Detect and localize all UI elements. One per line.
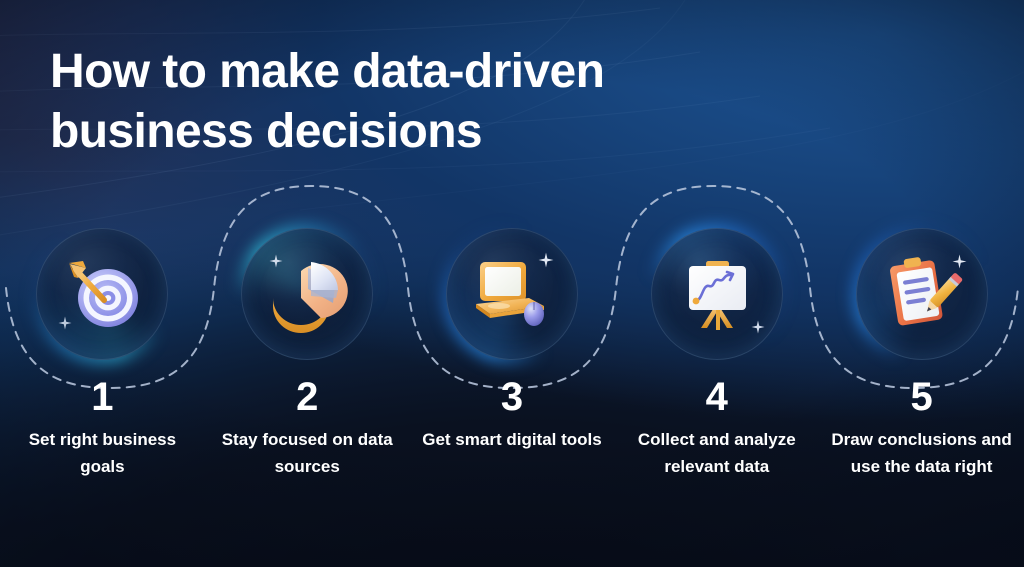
step-number-4: 4 xyxy=(614,376,819,418)
step-item-5[interactable]: 5 Draw conclusions and use the data righ… xyxy=(819,228,1024,480)
presentation-board-chart-icon xyxy=(651,228,783,360)
step-caption-5: Draw conclusions and use the data right xyxy=(819,426,1024,480)
step-item-3[interactable]: 3 Get smart digital tools xyxy=(410,228,615,480)
icon-bubble-1 xyxy=(36,228,168,360)
step-caption-4: Collect and analyze relevant data xyxy=(614,426,819,480)
infographic-slide: How to make data-driven business decisio… xyxy=(0,0,1024,567)
step-item-4[interactable]: 4 Collect and analyze relevant data xyxy=(614,228,819,480)
page-title: How to make data-driven business decisio… xyxy=(50,42,810,162)
icon-bubble-3 xyxy=(446,228,578,360)
pie-chart-icon xyxy=(241,228,373,360)
step-caption-1: Set right business goals xyxy=(0,426,205,480)
icon-bubble-4 xyxy=(651,228,783,360)
step-number-5: 5 xyxy=(819,376,1024,418)
step-caption-3: Get smart digital tools xyxy=(410,426,615,453)
laptop-mouse-icon xyxy=(446,228,578,360)
step-item-2[interactable]: 2 Stay focused on data sources xyxy=(205,228,410,480)
step-caption-2: Stay focused on data sources xyxy=(205,426,410,480)
icon-bubble-5 xyxy=(856,228,988,360)
icon-bubble-2 xyxy=(241,228,373,360)
step-item-1[interactable]: 1 Set right business goals xyxy=(0,228,205,480)
steps-row: 1 Set right business goals xyxy=(0,228,1024,480)
step-number-2: 2 xyxy=(205,376,410,418)
clipboard-pencil-icon xyxy=(856,228,988,360)
step-number-3: 3 xyxy=(410,376,615,418)
target-arrow-icon xyxy=(36,228,168,360)
step-number-1: 1 xyxy=(0,376,205,418)
